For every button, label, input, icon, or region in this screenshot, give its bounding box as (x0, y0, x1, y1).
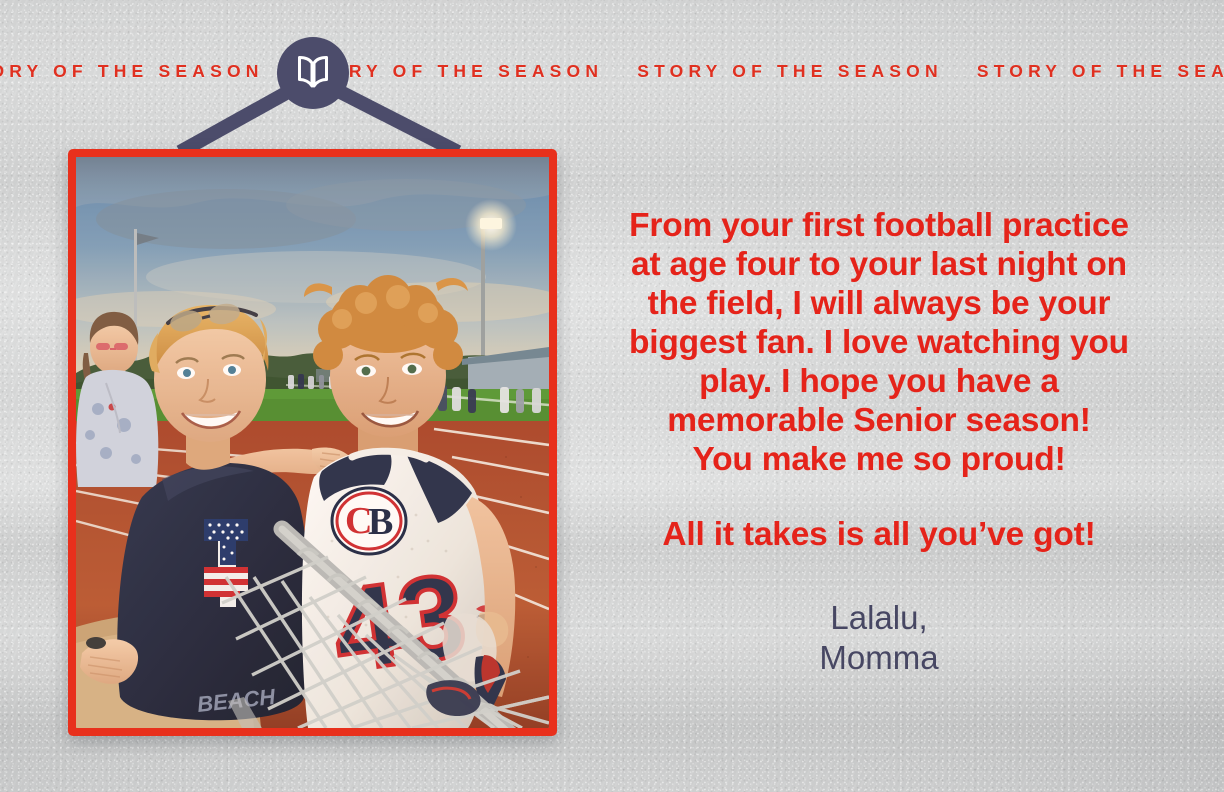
story-of-the-season-ticker: STORY OF THE SEASONSTORY OF THE SEASONST… (0, 52, 1224, 90)
message-spacer (598, 479, 1160, 515)
message-tagline: All it takes is all you’ve got! (598, 515, 1160, 554)
message-block: From your first football practice at age… (598, 206, 1160, 554)
message-body: From your first football practice at age… (598, 206, 1160, 479)
ticker-text: STORY OF THE SEASONSTORY OF THE SEASONST… (0, 61, 1224, 82)
signature-block: Lalalu, Momma (598, 598, 1160, 679)
ticker-item: STORY OF THE SEASON (977, 61, 1224, 81)
ticker-item: STORY OF THE SEASON (637, 61, 977, 81)
photo-illustration: BEACH (76, 157, 549, 728)
story-photo: BEACH (76, 157, 549, 728)
open-book-icon (291, 53, 335, 93)
photo-frame: BEACH (68, 149, 557, 736)
open-book-logo (277, 37, 349, 109)
ticker-item: STORY OF THE SEASON (0, 61, 298, 81)
